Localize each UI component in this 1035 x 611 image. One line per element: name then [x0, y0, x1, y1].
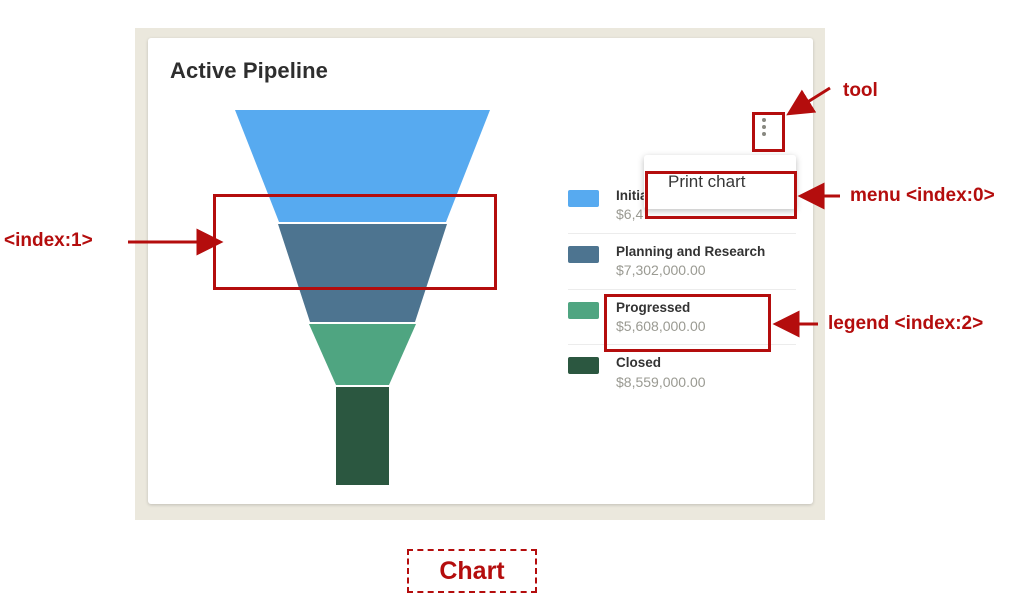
legend-item-closed[interactable]: Closed $8,559,000.00	[568, 344, 796, 400]
legend-item-value: $8,559,000.00	[616, 373, 706, 392]
menu-item-print-chart[interactable]: Print chart	[644, 165, 796, 199]
legend-item-value: $7,302,000.00	[616, 261, 765, 280]
legend-item-planning-and-research[interactable]: Planning and Research $7,302,000.00	[568, 233, 796, 289]
funnel-segment-progressed[interactable]	[309, 324, 416, 385]
legend-item-label: Progressed	[616, 299, 706, 317]
annotation-label-legend: legend <index:2>	[828, 313, 983, 335]
kebab-dot	[762, 118, 766, 122]
legend-item-text: Planning and Research $7,302,000.00	[616, 243, 765, 280]
legend-item-label: Closed	[616, 354, 706, 372]
chart-context-menu: Print chart	[644, 155, 796, 209]
annotation-label-chart: Chart	[439, 557, 504, 586]
annotation-caption-chart: Chart	[407, 549, 537, 593]
page-title: Active Pipeline	[170, 58, 328, 84]
legend-item-text: Closed $8,559,000.00	[616, 354, 706, 391]
annotation-label-segment: <index:1>	[4, 230, 93, 252]
chart-card: Active Pipeline Initiated $6,4 Planning …	[148, 38, 813, 504]
funnel-chart	[190, 110, 535, 485]
legend-item-label: Planning and Research	[616, 243, 765, 261]
funnel-segment-closed[interactable]	[336, 387, 389, 485]
legend-item-value: $5,608,000.00	[616, 317, 706, 336]
funnel-segment-initiated[interactable]	[235, 110, 490, 222]
kebab-dot	[762, 125, 766, 129]
legend-swatch-icon	[568, 190, 599, 207]
legend-swatch-icon	[568, 302, 599, 319]
legend-item-progressed[interactable]: Progressed $5,608,000.00	[568, 289, 796, 345]
kebab-dot	[762, 132, 766, 136]
funnel-svg	[190, 110, 535, 485]
annotation-label-tool: tool	[843, 80, 878, 102]
funnel-segment-planning[interactable]	[278, 224, 447, 322]
chart-menu-kebab-icon[interactable]	[753, 112, 775, 142]
legend-swatch-icon	[568, 357, 599, 374]
annotation-label-menu: menu <index:0>	[850, 185, 995, 207]
legend-item-text: Progressed $5,608,000.00	[616, 299, 706, 336]
legend-swatch-icon	[568, 246, 599, 263]
chart-legend: Initiated $6,4 Planning and Research $7,…	[568, 178, 796, 400]
